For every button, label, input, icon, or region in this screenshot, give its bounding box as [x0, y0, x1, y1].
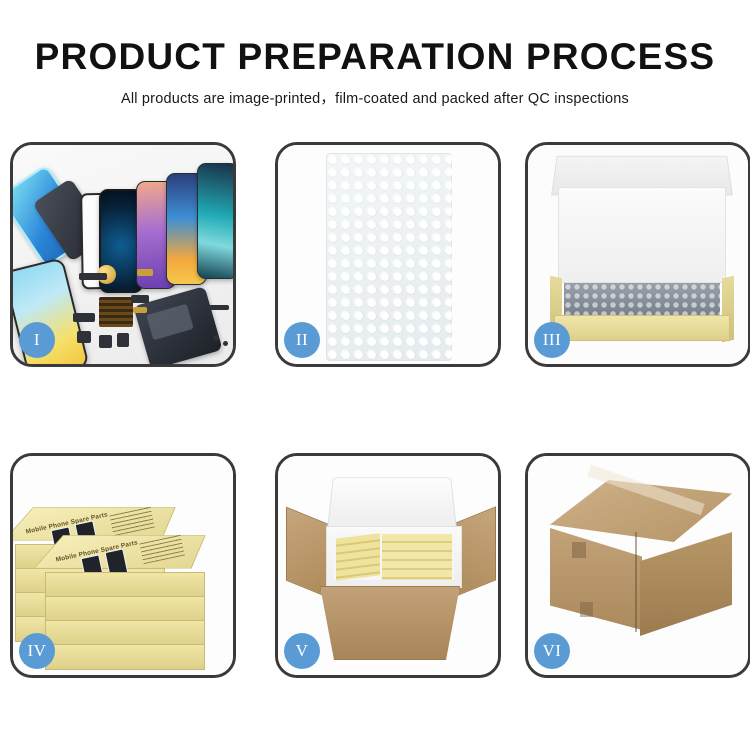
small-part-icon-6 — [133, 307, 147, 313]
process-steps-grid: I II — [10, 142, 746, 750]
process-row-1: I II — [10, 142, 746, 367]
packed-boxes-group-left-icon — [336, 533, 380, 580]
flex-cable-icon — [79, 273, 107, 280]
stacked-box-front-1 — [45, 572, 205, 598]
gold-box-front-icon — [554, 315, 730, 341]
step-badge-1: I — [19, 322, 55, 358]
screw-icon-2 — [223, 341, 228, 346]
process-step-panel-4[interactable]: Mobile Phone Spare Parts Mobile Phone Sp… — [10, 453, 236, 678]
process-step-panel-1[interactable]: I — [10, 142, 236, 367]
white-foam-icon — [558, 187, 726, 283]
carton-body-icon — [320, 586, 460, 660]
small-part-icon-5 — [131, 295, 149, 303]
step-badge-3: III — [534, 322, 570, 358]
step-badge-4: IV — [19, 633, 55, 669]
process-row-2: Mobile Phone Spare Parts Mobile Phone Sp… — [10, 453, 746, 678]
screw-icon-1 — [213, 335, 219, 341]
styrofoam-lid-icon — [327, 477, 457, 531]
gold-contact-icon — [137, 269, 153, 276]
page-title: PRODUCT PREPARATION PROCESS — [0, 38, 750, 77]
grey-bubble-padding-icon — [564, 283, 720, 317]
stacked-box-front-2 — [45, 596, 205, 622]
process-step-panel-3[interactable]: III — [525, 142, 750, 367]
carton-mark-icon-1 — [572, 542, 586, 558]
small-part-icon-1 — [73, 313, 95, 322]
process-step-panel-5[interactable]: V — [275, 453, 501, 678]
carton-corner-seam-icon — [635, 532, 637, 632]
page-subtitle: All products are image-printed，film-coat… — [0, 87, 750, 108]
small-part-icon-4 — [117, 333, 129, 347]
packed-boxes-group-right-icon — [382, 534, 452, 580]
stacked-box-front-3 — [45, 620, 205, 646]
bubble-wrap-icon — [326, 153, 452, 361]
tool-icon — [209, 305, 229, 310]
step-badge-2: II — [284, 322, 320, 358]
step-badge-6: VI — [534, 633, 570, 669]
product-preparation-infographic: PRODUCT PREPARATION PROCESS All products… — [0, 0, 750, 750]
phone-teal-icon — [197, 163, 233, 279]
process-step-panel-6[interactable]: VI — [525, 453, 750, 678]
small-part-icon-3 — [99, 335, 112, 348]
carton-mark-icon-2 — [580, 602, 593, 617]
small-part-icon-2 — [77, 331, 91, 343]
stacked-box-front-4 — [45, 644, 205, 670]
connector-grid-icon — [99, 297, 133, 327]
header: PRODUCT PREPARATION PROCESS All products… — [0, 0, 750, 108]
step-badge-5: V — [284, 633, 320, 669]
process-step-panel-2[interactable]: II — [275, 142, 501, 367]
